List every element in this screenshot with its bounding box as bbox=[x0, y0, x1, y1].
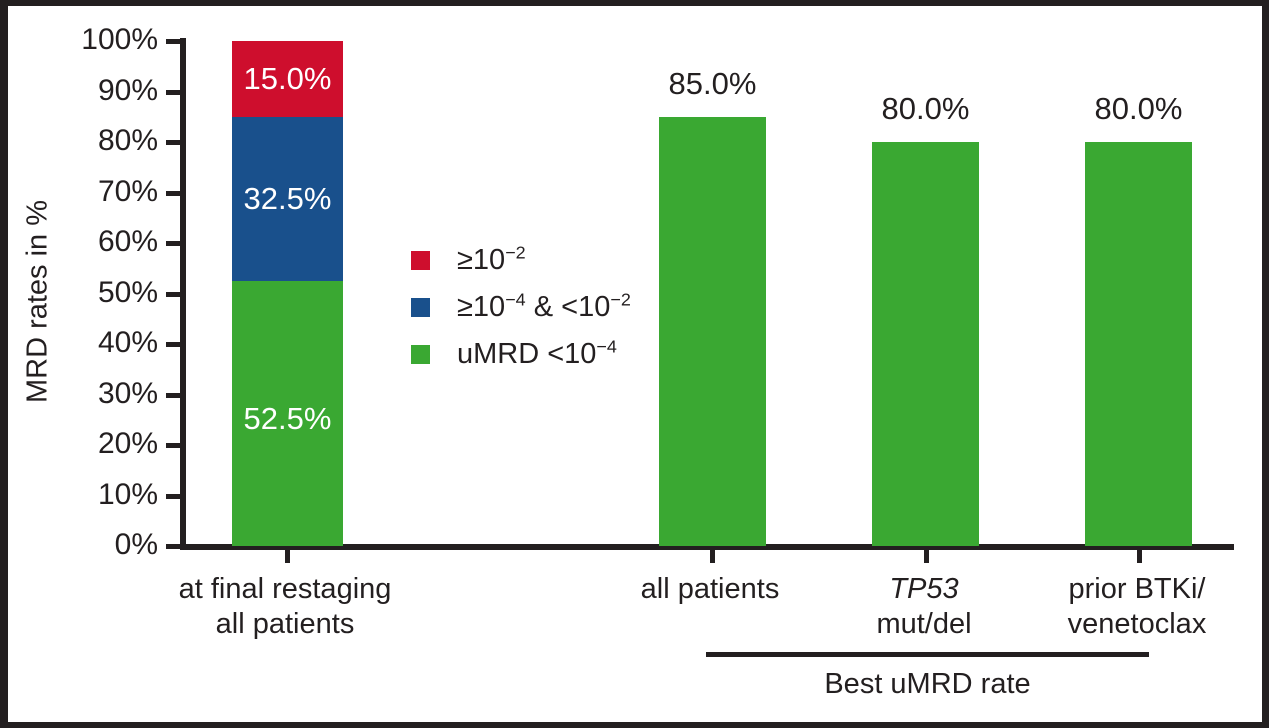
bar-all-patients-value: 85.0% bbox=[639, 68, 786, 99]
bar-segment-green: 52.5% bbox=[232, 281, 343, 546]
legend-swatch-green bbox=[411, 345, 430, 364]
legend-label-exponent-2: −2 bbox=[610, 289, 631, 309]
y-tick-label: 70% bbox=[48, 177, 158, 207]
y-tick-label: 90% bbox=[48, 76, 158, 106]
category-label-4-line2: venetoclax bbox=[1027, 607, 1247, 642]
legend-swatch-blue bbox=[411, 298, 430, 317]
x-tick-mark-3 bbox=[924, 549, 929, 563]
x-tick-mark-2 bbox=[710, 549, 715, 563]
y-tick-label: 40% bbox=[48, 328, 158, 358]
category-label-3-line2: mut/del bbox=[824, 607, 1024, 642]
y-tick-mark bbox=[166, 191, 182, 196]
legend-label-exponent: −4 bbox=[596, 336, 617, 356]
group-bracket-rule bbox=[706, 652, 1149, 657]
category-label-2-line1: all patients bbox=[610, 572, 810, 607]
legend-item-umrd[interactable]: uMRD <10−4 bbox=[411, 331, 631, 378]
x-tick-mark-1 bbox=[285, 549, 290, 563]
bar-tp53-value: 80.0% bbox=[852, 93, 999, 124]
category-label-4-line1: prior BTKi/ bbox=[1027, 572, 1247, 607]
bar-prior-btki bbox=[1085, 142, 1192, 546]
y-tick-mark bbox=[166, 494, 182, 499]
category-label-1: at final restaging all patients bbox=[135, 572, 435, 643]
y-tick-mark bbox=[166, 39, 182, 44]
x-tick-mark-4 bbox=[1137, 549, 1142, 563]
chart-figure: MRD rates in % 100% 90% 80% 70% 60% 50% … bbox=[0, 0, 1269, 728]
category-label-3: TP53 mut/del bbox=[824, 572, 1024, 643]
legend-label-mid: ≥10−4 & <10−2 bbox=[457, 293, 631, 322]
y-tick-label: 80% bbox=[48, 126, 158, 156]
frame-border-right bbox=[1262, 0, 1269, 728]
y-tick-label: 20% bbox=[48, 429, 158, 459]
bar-segment-red: 15.0% bbox=[232, 41, 343, 117]
frame-border-left bbox=[0, 0, 8, 728]
y-tick-label: 0% bbox=[48, 530, 158, 560]
legend-label-ge-1e-2: ≥10−2 bbox=[457, 246, 526, 275]
chart-legend: ≥10−2 ≥10−4 & <10−2 uMRD <10−4 bbox=[411, 237, 631, 378]
y-tick-mark bbox=[166, 241, 182, 246]
category-label-3-line1: TP53 bbox=[824, 572, 1024, 607]
group-bracket-label: Best uMRD rate bbox=[706, 668, 1149, 701]
legend-label-text: ≥10 bbox=[457, 244, 505, 276]
frame-border-bottom bbox=[0, 722, 1269, 728]
bar-segment-blue-label: 32.5% bbox=[232, 183, 343, 214]
legend-label-text: uMRD <10 bbox=[457, 338, 596, 370]
legend-label-exponent: −4 bbox=[505, 289, 526, 309]
y-tick-label: 50% bbox=[48, 278, 158, 308]
legend-swatch-red bbox=[411, 251, 430, 270]
legend-label-text-2: & <10 bbox=[526, 291, 611, 323]
y-tick-label: 100% bbox=[48, 25, 158, 55]
category-label-2: all patients bbox=[610, 572, 810, 607]
y-tick-mark bbox=[166, 393, 182, 398]
y-tick-mark bbox=[166, 90, 182, 95]
category-label-4: prior BTKi/ venetoclax bbox=[1027, 572, 1247, 643]
bar-segment-blue: 32.5% bbox=[232, 117, 343, 281]
category-label-1-line1: at final restaging bbox=[135, 572, 435, 607]
y-tick-label: 60% bbox=[48, 227, 158, 257]
legend-item-ge-1e-2[interactable]: ≥10−2 bbox=[411, 237, 631, 284]
bar-segment-red-label: 15.0% bbox=[232, 63, 343, 94]
category-label-1-line2: all patients bbox=[135, 607, 435, 642]
y-tick-mark bbox=[166, 443, 182, 448]
frame-border-top bbox=[0, 0, 1269, 6]
y-tick-label: 30% bbox=[48, 379, 158, 409]
legend-label-exponent: −2 bbox=[505, 242, 526, 262]
legend-label-umrd: uMRD <10−4 bbox=[457, 340, 617, 369]
y-tick-mark bbox=[166, 292, 182, 297]
y-tick-label: 10% bbox=[48, 480, 158, 510]
legend-item-mid[interactable]: ≥10−4 & <10−2 bbox=[411, 284, 631, 331]
y-tick-mark bbox=[166, 342, 182, 347]
legend-label-text: ≥10 bbox=[457, 291, 505, 323]
bar-prior-btki-value: 80.0% bbox=[1065, 93, 1212, 124]
bar-tp53 bbox=[872, 142, 979, 546]
y-tick-mark bbox=[166, 544, 182, 549]
bar-all-patients bbox=[659, 117, 766, 546]
y-tick-mark bbox=[166, 140, 182, 145]
bar-segment-green-label: 52.5% bbox=[232, 403, 343, 434]
